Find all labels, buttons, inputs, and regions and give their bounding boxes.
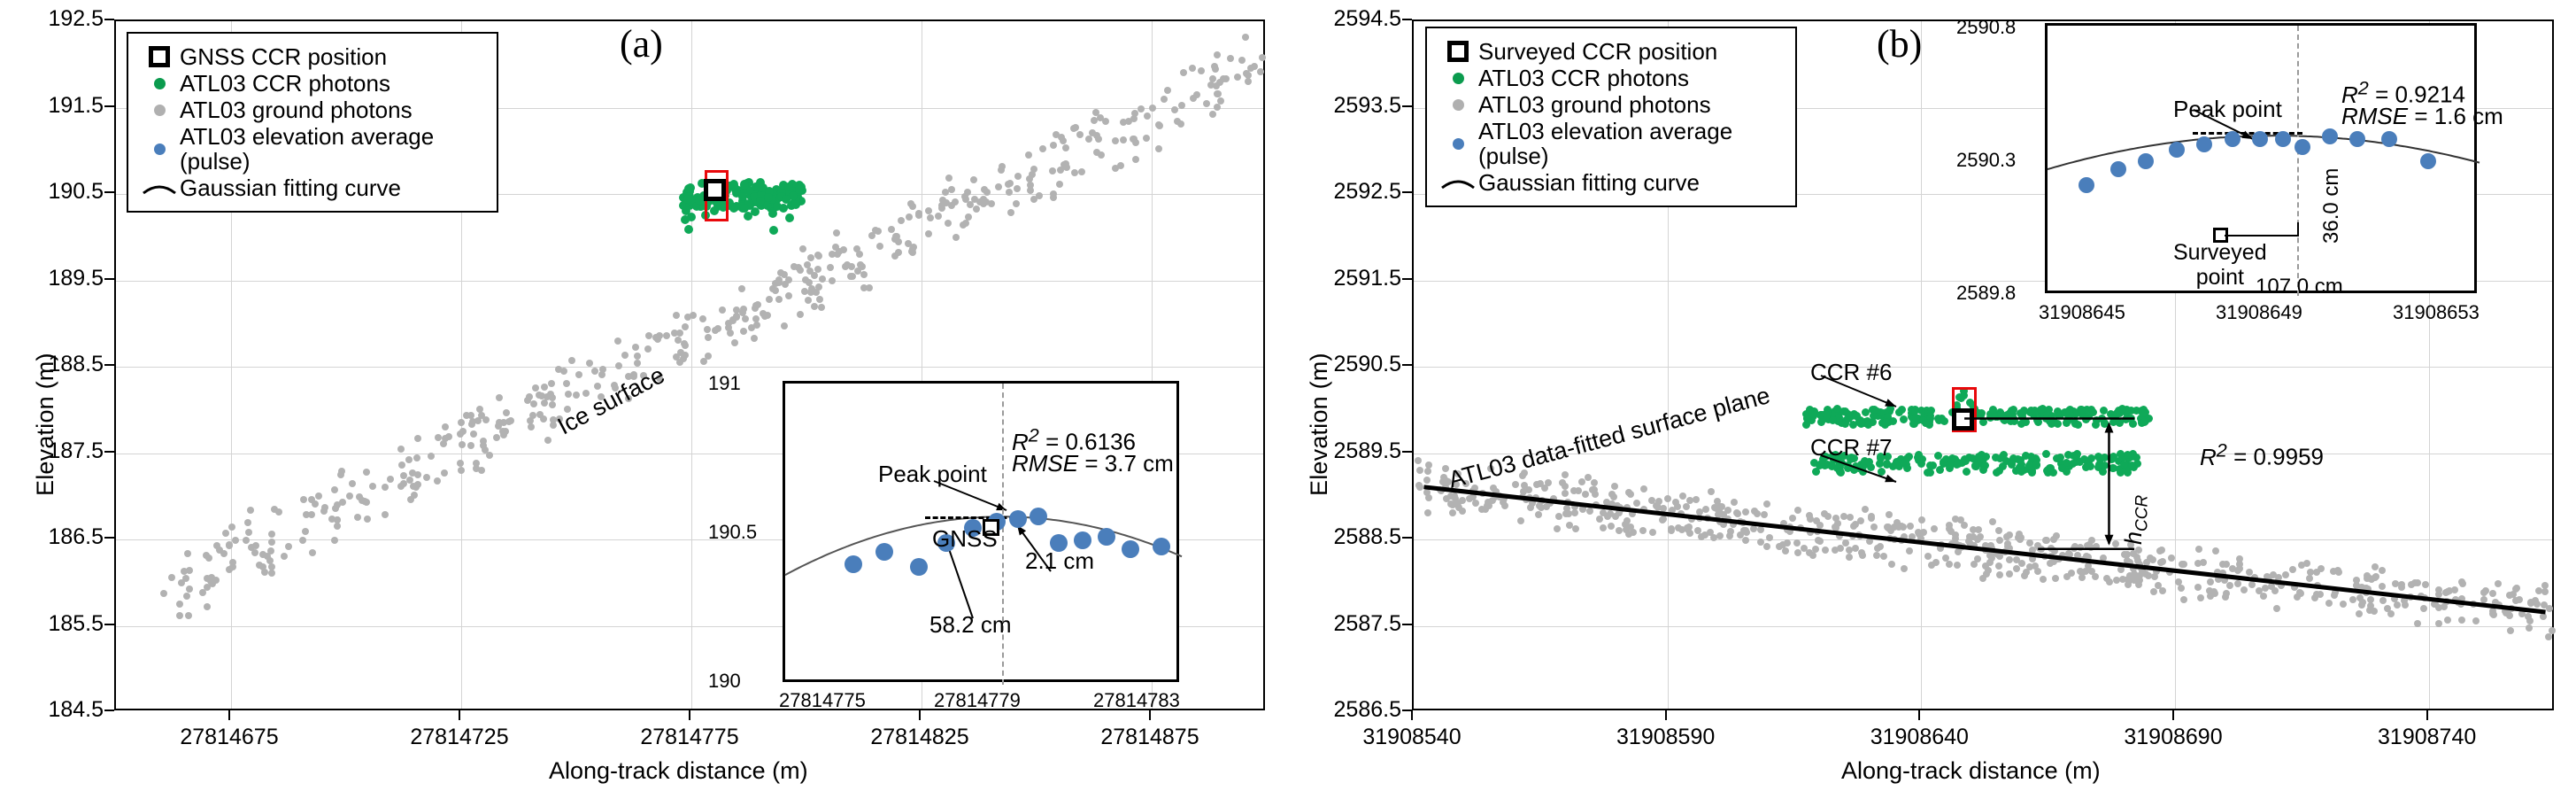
panel-b-legend: Surveyed CCR position ATL03 CCR photons … bbox=[1425, 27, 1797, 207]
inset-a-pulse-point bbox=[1009, 510, 1027, 528]
figure-root: Elevation (m) Along-track distance (m) (… bbox=[0, 0, 2576, 791]
legend-item-atl03-elevation-average[interactable]: ATL03 elevation average (pulse) bbox=[139, 124, 484, 174]
inset-a-ytick-mid: 190.5 bbox=[708, 521, 757, 544]
panel-a-legend: GNSS CCR position ATL03 CCR photons ATL0… bbox=[127, 32, 498, 213]
legend-item-atl03-ccr-photons[interactable]: ATL03 CCR photons bbox=[139, 71, 484, 96]
inset-b-peak-vertical bbox=[2297, 26, 2299, 296]
panel-b-xtick-label: 31908540 bbox=[1332, 725, 1492, 750]
inset-b-pulse-point bbox=[2225, 131, 2241, 147]
inset-b-xtick-1: 31908645 bbox=[2039, 301, 2125, 324]
panel-b-ytick-label: 2586.5 bbox=[1288, 697, 1401, 723]
inset-a-pulse-point bbox=[1030, 508, 1047, 525]
legend-label: GNSS CCR position bbox=[180, 44, 387, 69]
inset-a-peak-vertical bbox=[1002, 384, 1004, 685]
inset-a-vert-offset-label: 2.1 cm bbox=[1025, 547, 1094, 575]
inset-b-xtick-2: 31908649 bbox=[2216, 301, 2302, 324]
inset-b-ytick-mid: 2590.3 bbox=[1956, 149, 2016, 172]
panel-a-ytick-label: 192.5 bbox=[0, 6, 104, 32]
hccr-label: hCCR bbox=[2120, 495, 2152, 545]
panel-a-xtick-label: 27814775 bbox=[610, 725, 769, 750]
panel-b-x-axis-title: Along-track distance (m) bbox=[1841, 757, 2101, 785]
panel-b-ytick-label: 2588.5 bbox=[1288, 524, 1401, 550]
inset-b-horiz-offset-label: 107.0 cm bbox=[2256, 275, 2343, 299]
inset-a-horiz-offset-label: 58.2 cm bbox=[929, 611, 1012, 639]
panel-a-ytick-label: 185.5 bbox=[0, 611, 104, 637]
rmse-value: = 1.6 cm bbox=[2414, 103, 2503, 129]
panel-b-label: (b) bbox=[1877, 21, 1922, 66]
inset-b-pulse-point bbox=[2381, 131, 2397, 147]
panel-a-ytick-label: 184.5 bbox=[0, 697, 104, 723]
panel-b-ytick-label: 2587.5 bbox=[1288, 611, 1401, 637]
legend-label: ATL03 CCR photons bbox=[1478, 66, 1689, 90]
panel-b-xtick-label: 31908640 bbox=[1839, 725, 1999, 750]
panel-a-x-axis-title: Along-track distance (m) bbox=[549, 757, 808, 785]
panel-b-ytick-label: 2590.5 bbox=[1288, 352, 1401, 377]
grey-dot-icon bbox=[139, 105, 180, 116]
legend-label: ATL03 CCR photons bbox=[180, 71, 390, 96]
inset-b-pulse-point bbox=[2420, 153, 2436, 169]
inset-a-ytick-bot: 190 bbox=[708, 670, 741, 693]
open-square-icon bbox=[139, 46, 180, 67]
inset-b-pulse-point bbox=[2138, 153, 2154, 169]
panel-a-ytick-label: 190.5 bbox=[0, 179, 104, 205]
gnss-ccr-marker bbox=[704, 179, 726, 201]
legend-label: Surveyed CCR position bbox=[1478, 39, 1717, 64]
legend-item-atl03-ccr-photons[interactable]: ATL03 CCR photons bbox=[1438, 66, 1783, 90]
inset-b-vert-offset-label: 36.0 cm bbox=[2319, 168, 2344, 244]
legend-label: ATL03 elevation average (pulse) bbox=[180, 124, 434, 174]
inset-b-surveyed-point-label: Surveyed point bbox=[2173, 241, 2267, 290]
legend-item-atl03-ground-photons[interactable]: ATL03 ground photons bbox=[139, 97, 484, 122]
ccr6-label: CCR #6 bbox=[1810, 359, 1892, 386]
hccr-text: hCCR bbox=[2120, 495, 2147, 545]
inset-a-pulse-point bbox=[910, 558, 928, 576]
open-square-icon bbox=[1438, 41, 1478, 62]
panel-b-ytick-label: 2593.5 bbox=[1288, 93, 1401, 119]
inset-a-xtick-2: 27814779 bbox=[934, 689, 1021, 712]
inset-a-rmse: RMSE = 3.7 cm bbox=[1012, 450, 1174, 477]
inset-b-xtick-3: 31908653 bbox=[2393, 301, 2480, 324]
panel-a-ytick-label: 187.5 bbox=[0, 438, 104, 464]
inset-a-ytick-top: 191 bbox=[708, 372, 741, 395]
legend-label: ATL03 ground photons bbox=[180, 97, 413, 122]
inset-a-peak-point-label: Peak point bbox=[878, 461, 987, 488]
panel-a-ytick-label: 188.5 bbox=[0, 352, 104, 377]
inset-b-ytick-top: 2590.8 bbox=[1956, 16, 2016, 39]
legend-item-gaussian-fitting-curve[interactable]: Gaussian fitting curve bbox=[139, 175, 484, 200]
panel-a-ytick-label: 191.5 bbox=[0, 93, 104, 119]
inset-a-pulse-point bbox=[1074, 531, 1091, 549]
panel-a-xtick-label: 27814875 bbox=[1070, 725, 1230, 750]
panel-b-ytick-label: 2591.5 bbox=[1288, 266, 1401, 291]
panel-b-xtick-label: 31908690 bbox=[2094, 725, 2253, 750]
rmse-value: = 3.7 cm bbox=[1084, 450, 1173, 477]
inset-b-ytick-bot: 2589.8 bbox=[1956, 282, 2016, 305]
inset-a-gnss-label: GNSS bbox=[932, 525, 998, 553]
legend-item-atl03-ground-photons[interactable]: ATL03 ground photons bbox=[1438, 92, 1783, 117]
panel-a-ytick-label: 186.5 bbox=[0, 524, 104, 550]
inset-a-xtick-1: 27814775 bbox=[779, 689, 866, 712]
legend-item-surveyed-ccr-position[interactable]: Surveyed CCR position bbox=[1438, 39, 1783, 64]
inset-a-pulse-point bbox=[1153, 538, 1170, 555]
inset-a-xtick-3: 27814783 bbox=[1093, 689, 1180, 712]
panel-b-fit-r2: R2 = 0.9959 bbox=[2200, 438, 2324, 471]
grey-dot-icon bbox=[1438, 99, 1478, 111]
panel-b: Elevation (m) Along-track distance (m) (… bbox=[1288, 0, 2576, 791]
legend-label: ATL03 ground photons bbox=[1478, 92, 1711, 117]
r2-symbol: R2 bbox=[2200, 444, 2227, 470]
inset-b-leader-tick bbox=[2297, 222, 2299, 237]
green-dot-icon bbox=[1438, 73, 1478, 84]
legend-item-gaussian-fitting-curve[interactable]: Gaussian fitting curve bbox=[1438, 170, 1783, 195]
legend-label: ATL03 elevation average (pulse) bbox=[1478, 119, 1732, 168]
inset-a-pulse-point bbox=[1122, 540, 1139, 558]
inset-b-pulse-point bbox=[2110, 161, 2126, 177]
panel-a-label: (a) bbox=[620, 21, 663, 66]
panel-a-xtick-label: 27814725 bbox=[380, 725, 539, 750]
panel-a-xtick-label: 27814675 bbox=[150, 725, 309, 750]
panel-a: Elevation (m) Along-track distance (m) (… bbox=[0, 0, 1288, 791]
legend-label: Gaussian fitting curve bbox=[180, 175, 401, 200]
blue-dot-icon bbox=[139, 143, 180, 155]
panel-b-xtick-label: 31908590 bbox=[1586, 725, 1746, 750]
panel-b-ytick-label: 2589.5 bbox=[1288, 438, 1401, 464]
inset-b-pulse-point bbox=[2252, 131, 2268, 147]
inset-b-peak-point-label: Peak point bbox=[2173, 96, 2282, 123]
ccr7-label: CCR #7 bbox=[1810, 434, 1892, 461]
green-dot-icon bbox=[139, 78, 180, 89]
legend-item-gnss-ccr-position[interactable]: GNSS CCR position bbox=[139, 44, 484, 69]
inset-b-leader-line bbox=[2225, 235, 2297, 237]
legend-label: Gaussian fitting curve bbox=[1478, 170, 1700, 195]
panel-a-xtick-label: 27814825 bbox=[840, 725, 999, 750]
panel-b-ytick-label: 2594.5 bbox=[1288, 6, 1401, 32]
inset-b-rmse: RMSE = 1.6 cm bbox=[2341, 103, 2503, 130]
rmse-symbol: RMSE bbox=[1012, 450, 1078, 477]
rmse-symbol: RMSE bbox=[2341, 103, 2408, 129]
legend-item-atl03-elevation-average[interactable]: ATL03 elevation average (pulse) bbox=[1438, 119, 1783, 168]
panel-b-xtick-label: 31908740 bbox=[2348, 725, 2507, 750]
blue-dot-icon bbox=[1438, 138, 1478, 150]
panel-b-ytick-label: 2592.5 bbox=[1288, 179, 1401, 205]
r2-value: = 0.9959 bbox=[2233, 444, 2324, 470]
panel-a-ytick-label: 189.5 bbox=[0, 266, 104, 291]
